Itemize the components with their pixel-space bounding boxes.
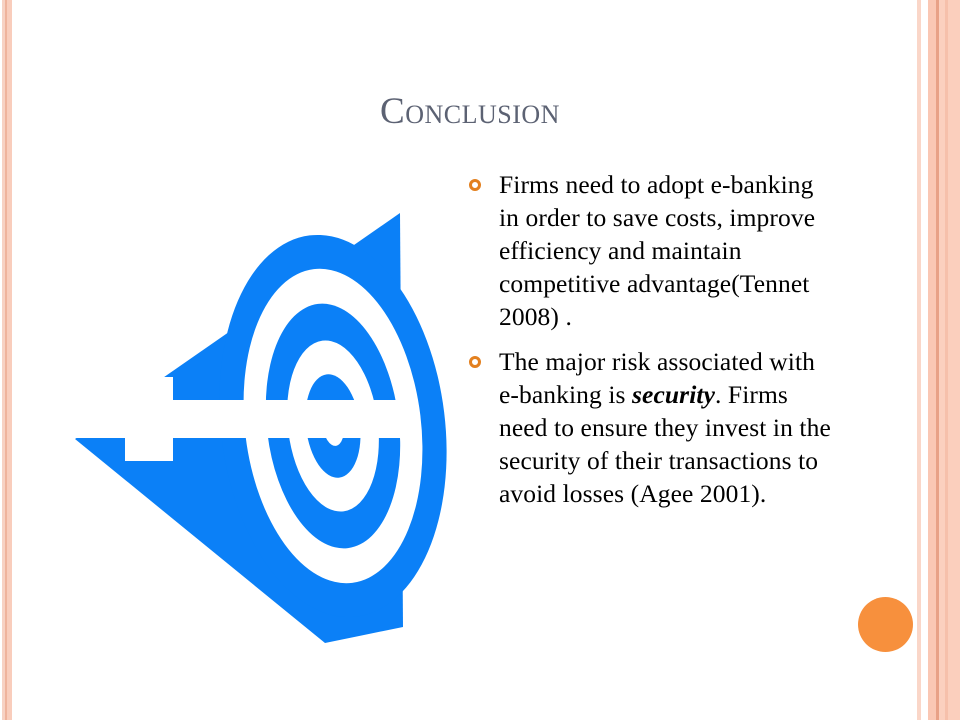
list-item: Firms need to adopt e-banking in order t…	[466, 168, 838, 333]
border-stripe-right-2	[921, 0, 928, 720]
bullseye-target-with-arrow-graphic	[55, 195, 450, 665]
bullet-list: Firms need to adopt e-banking in order t…	[466, 168, 838, 522]
emphasised-term: security	[632, 380, 715, 409]
bullet-text-2: The major risk associated with e-banking…	[499, 347, 831, 508]
border-stripe-left-3	[7, 0, 12, 720]
orange-accent-dot	[858, 597, 913, 652]
slide-title: Conclusion	[120, 92, 820, 133]
border-stripe-right-7	[948, 0, 960, 720]
slide-canvas: Conclusion	[0, 0, 960, 720]
hollow-circle-bullet-icon	[469, 179, 481, 191]
bullet-text-1: Firms need to adopt e-banking in order t…	[499, 170, 815, 331]
list-item: The major risk associated with e-banking…	[466, 345, 838, 510]
hollow-circle-bullet-icon	[469, 356, 481, 368]
border-stripe-right-3	[928, 0, 936, 720]
